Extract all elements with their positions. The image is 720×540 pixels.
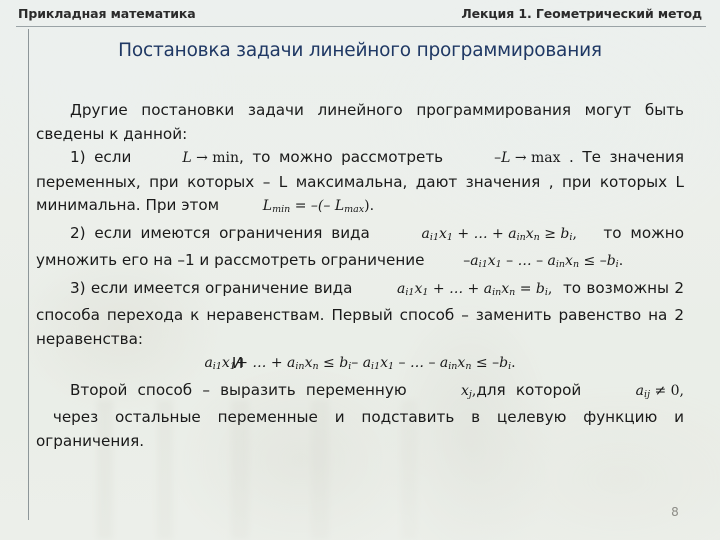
- formula-negL-arrow: →: [515, 150, 527, 166]
- page-number: 8: [664, 505, 686, 519]
- p1-lead: 1) если: [70, 148, 131, 166]
- formula-constraint-le-neg: –ai1x1 – … – ainxn ≤ –bi.: [429, 250, 623, 277]
- formula-variable-xj: xj,: [427, 380, 476, 407]
- header-lecture-label: Лекция 1. Геометрический метод: [461, 6, 702, 21]
- header-divider: [16, 26, 706, 27]
- formula-negL-to-max: –L → max: [460, 147, 560, 171]
- formula-Lmin-eq: Lmin = –(– Lmax).: [229, 195, 374, 222]
- paragraph-intro: Другие постановки задачи линейного прогр…: [36, 99, 684, 146]
- formula-row-split: ai1x1И+ … + ainxn ≤ bi– ai1x1 – … – ainx…: [36, 351, 684, 379]
- paragraph-3: 3) если имеется ограничение вида ai1x1 +…: [36, 277, 684, 352]
- formula-L-to-min-rhs: min: [212, 150, 239, 166]
- p3-lead: 3) если имеется ограничение вида: [70, 279, 352, 297]
- formula-Lmin-lhs: L: [263, 198, 272, 214]
- formula-Lmin-rhs-sub: max: [344, 204, 364, 215]
- paragraph-intro-text: Другие постановки задачи линейного прогр…: [36, 101, 684, 143]
- page-title: Постановка задачи линейного программиров…: [0, 40, 720, 61]
- formula-split-left: ai1x1И+ … + ainxn ≤ bi: [204, 351, 351, 379]
- formula-L-to-min: L → min: [148, 147, 239, 171]
- paragraph-1: 1) если L → min, то можно рассмотреть –L…: [36, 146, 684, 222]
- slide: Прикладная математика Лекция 1. Геометри…: [0, 0, 720, 540]
- header-course-label: Прикладная математика: [18, 6, 196, 21]
- formula-L-to-min-arrow: →: [196, 150, 208, 166]
- formula-aij-nonzero: aij ≠ 0,: [602, 380, 684, 407]
- formula-Lmin-lhs-sub: min: [272, 204, 290, 215]
- formula-constraint-eq: ai1x1 + … + ainxn = bi,: [363, 278, 552, 305]
- slide-body: Другие постановки задачи линейного прогр…: [36, 99, 684, 453]
- p4-lead: Второй способ – выразить переменную: [70, 381, 407, 399]
- paragraph-2: 2) если имеются ограничения вида ai1x1 +…: [36, 222, 684, 277]
- p4-tail: через остальные переменные и подставить …: [36, 408, 684, 450]
- formula-Lmin-close: ).: [364, 198, 374, 214]
- slide-header: Прикладная математика Лекция 1. Геометри…: [0, 0, 720, 26]
- formula-split-right: – ai1x1 – … – ainxn ≤ –bi.: [351, 352, 515, 379]
- formula-connector-and: И: [232, 354, 243, 372]
- formula-constraint-ge: ai1x1 + … + ainxn ≥ bi,: [388, 223, 577, 250]
- formula-Lmin-rhs: –(– L: [311, 198, 344, 214]
- p2-lead: 2) если имеются ограничения вида: [70, 224, 370, 242]
- formula-Lmin-eq-sign: =: [295, 198, 307, 214]
- formula-negL-rhs: max: [531, 150, 561, 166]
- p4-mid: для которой: [476, 381, 581, 399]
- paragraph-4: Второй способ – выразить переменную xj,д…: [36, 379, 684, 454]
- formula-negL-lhs: L: [501, 150, 510, 166]
- p1-mid: , то можно рассмотреть: [239, 148, 443, 166]
- formula-L-to-min-lhs: L: [182, 150, 191, 166]
